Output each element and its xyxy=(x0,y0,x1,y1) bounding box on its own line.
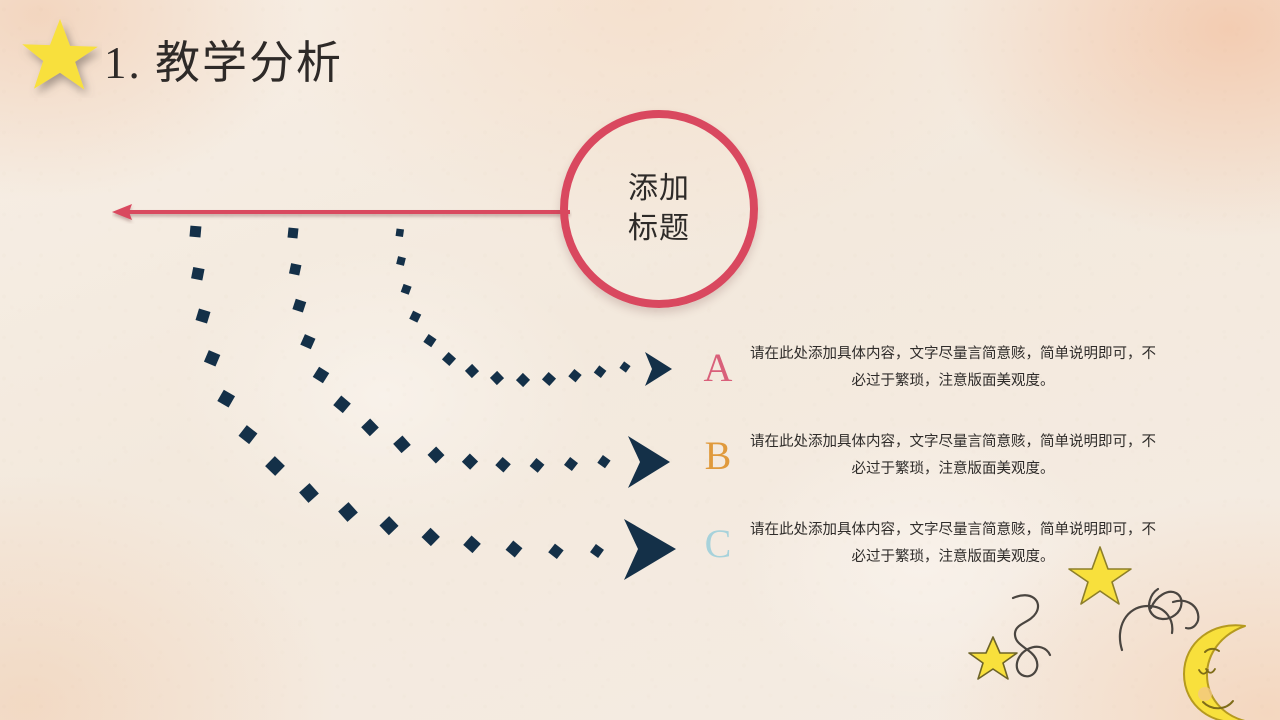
dotted-curve-c xyxy=(189,226,676,580)
row-text-c: 请在此处添加具体内容，文字尽量言简意赅，简单说明即可，不必过于繁琐，注意版面美观… xyxy=(746,517,1160,571)
row-letter-b: B xyxy=(690,436,746,476)
slide-canvas: 1. 教学分析 添加 标题 xyxy=(0,0,1280,720)
content-row-a: A 请在此处添加具体内容，文字尽量言简意赅，简单说明即可，不必过于繁琐，注意版面… xyxy=(690,341,1160,395)
content-row-c: C 请在此处添加具体内容，文字尽量言简意赅，简单说明即可，不必过于繁琐，注意版面… xyxy=(690,517,1160,571)
row-text-b: 请在此处添加具体内容，文字尽量言简意赅，简单说明即可，不必过于繁琐，注意版面美观… xyxy=(746,429,1160,483)
row-letter-c: C xyxy=(690,524,746,564)
content-row-b: B 请在此处添加具体内容，文字尽量言简意赅，简单说明即可，不必过于繁琐，注意版面… xyxy=(690,429,1160,483)
dotted-curve-a xyxy=(396,228,672,387)
row-letter-a: A xyxy=(690,348,746,388)
dotted-curve-b xyxy=(288,228,670,488)
row-text-a: 请在此处添加具体内容，文字尽量言简意赅，简单说明即可，不必过于繁琐，注意版面美观… xyxy=(746,341,1160,395)
